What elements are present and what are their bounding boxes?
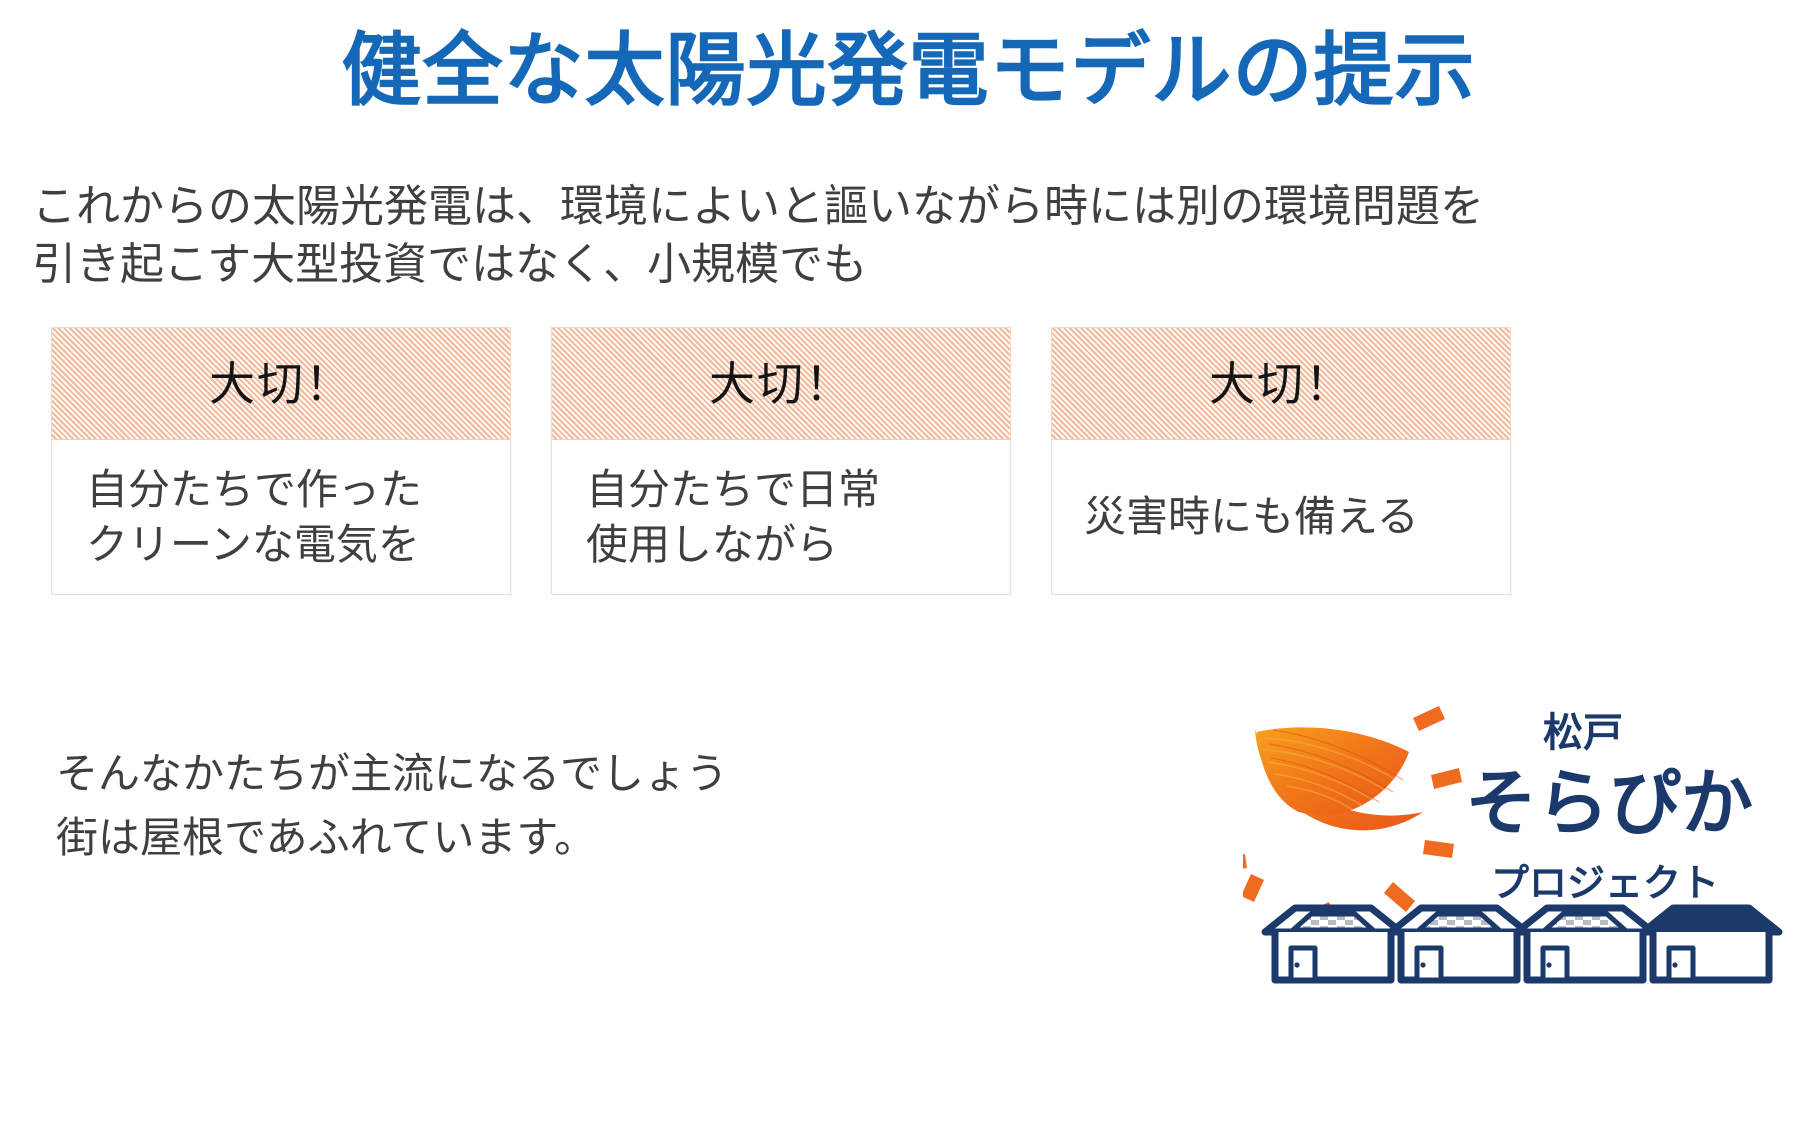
- info-box-1-body-line-1: 自分たちで作った: [86, 462, 422, 517]
- info-box-3-header: 大切！: [1052, 328, 1510, 440]
- lead-paragraph: これからの太陽光発電は、環境によいと謳いながら時には別の環境問題を 引き起こす大…: [32, 178, 1532, 294]
- info-box-2-header: 大切！: [552, 328, 1010, 440]
- info-box-3-body-text: 災害時にも備える: [1084, 489, 1419, 544]
- sorapika-project-logo: 松戸 そらぴか プロジェクト: [1243, 700, 1788, 1000]
- house-plain-4: [1643, 908, 1779, 980]
- info-box-1-header: 大切！: [52, 328, 510, 440]
- closing-paragraph: そんなかたちが主流になるでしょう 街は屋根であふれています。: [56, 742, 956, 870]
- info-box-1-body-line-2: クリーンな電気を: [86, 517, 422, 572]
- info-box-1-body-text: 自分たちで作った クリーンな電気を: [86, 462, 422, 573]
- logo-subtitle-label: プロジェクト: [1491, 861, 1719, 905]
- house-solar-1: [1265, 908, 1401, 980]
- house-solar-2: [1391, 908, 1527, 980]
- info-box-2: 大切！ 自分たちで日常 使用しながら: [551, 327, 1011, 595]
- houses-icon: [1265, 908, 1779, 980]
- info-box-2-body-line-2: 使用しながら: [586, 517, 880, 572]
- house-solar-3: [1517, 908, 1653, 980]
- info-box-1-header-label: 大切！: [209, 361, 353, 407]
- info-box-2-body: 自分たちで日常 使用しながら: [552, 440, 1010, 594]
- sun-icon: [1255, 727, 1423, 830]
- info-box-1: 大切！ 自分たちで作った クリーンな電気を: [51, 327, 511, 595]
- logo-city-label: 松戸: [1543, 710, 1623, 756]
- info-box-3-body: 災害時にも備える: [1052, 440, 1510, 594]
- lead-line-1: これからの太陽光発電は、環境によいと謳いながら時には別の環境問題を: [32, 178, 1532, 236]
- info-box-1-body: 自分たちで作った クリーンな電気を: [52, 440, 510, 594]
- info-box-3-header-label: 大切！: [1209, 361, 1353, 407]
- lead-line-2: 引き起こす大型投資ではなく、小規模でも: [32, 236, 1532, 294]
- info-box-2-header-label: 大切！: [709, 361, 853, 407]
- page-title: 健全な太陽光発電モデルの提示: [0, 26, 1817, 116]
- info-box-3-body-line-1: 災害時にも備える: [1084, 489, 1419, 544]
- closing-line-1: そんなかたちが主流になるでしょう: [56, 742, 956, 806]
- info-box-3: 大切！ 災害時にも備える: [1051, 327, 1511, 595]
- info-box-row: 大切！ 自分たちで作った クリーンな電気を 大切！ 自分たちで日常 使用しながら…: [51, 327, 1767, 595]
- info-box-2-body-line-1: 自分たちで日常: [586, 462, 880, 517]
- info-box-2-body-text: 自分たちで日常 使用しながら: [586, 462, 880, 573]
- logo-name-label: そらぴか: [1465, 761, 1753, 845]
- closing-line-2: 街は屋根であふれています。: [56, 806, 956, 870]
